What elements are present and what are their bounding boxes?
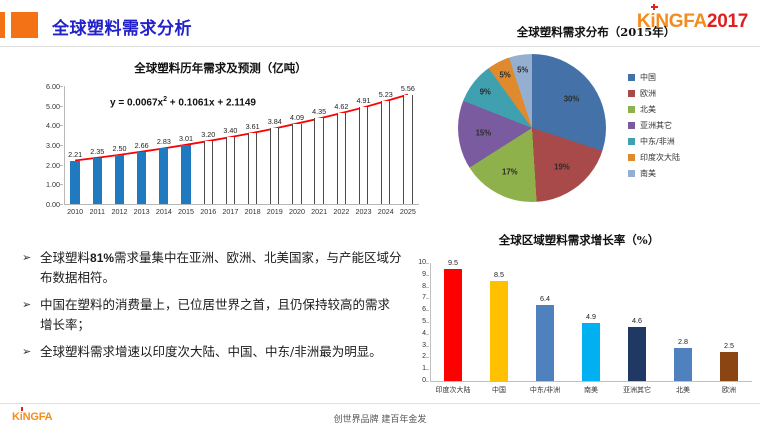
x-axis-tick-label: 2020 xyxy=(289,207,305,216)
growth-bar xyxy=(582,323,600,381)
growth-y-axis-tick-mark xyxy=(426,322,429,323)
y-axis-tick-mark xyxy=(60,106,63,107)
legend-swatch-icon xyxy=(628,122,635,129)
pie-legend-item: 中东/非洲 xyxy=(628,136,680,147)
growth-bar-value: 6.4 xyxy=(540,294,550,303)
growth-x-axis-tick-label: 南美 xyxy=(584,385,598,395)
growth-y-axis-tick-mark xyxy=(426,310,429,311)
y-axis-tick-label: 6.00 xyxy=(18,82,60,91)
x-axis-tick-label: 2010 xyxy=(67,207,83,216)
growth-y-axis-tick-mark xyxy=(426,287,429,288)
header-accent-sliver xyxy=(0,12,5,38)
growth-y-axis-tick-label: 0 xyxy=(400,377,426,384)
growth-y-axis-tick-label: 3 xyxy=(400,342,426,349)
growth-y-axis-tick-mark xyxy=(426,298,429,299)
pie-slice-label: 30% xyxy=(564,95,580,104)
legend-label: 亚洲其它 xyxy=(640,120,672,131)
growth-x-axis-tick-label: 中东/非洲 xyxy=(530,385,560,395)
page-footer: KiNGFA 创世界品牌 建百年金发 xyxy=(0,403,760,429)
legend-label: 印度次大陆 xyxy=(640,152,680,163)
demand-bar-value: 4.91 xyxy=(357,96,371,105)
y-axis-tick-label: 0.00 xyxy=(18,200,60,209)
x-axis-tick-label: 2025 xyxy=(400,207,416,216)
y-axis-tick-label: 3.00 xyxy=(18,141,60,150)
pie-slice-label: 5% xyxy=(499,71,510,80)
y-axis-tick-mark xyxy=(60,165,63,166)
legend-swatch-icon xyxy=(628,90,635,97)
growth-y-axis-tick-label: 10 xyxy=(400,259,426,266)
x-axis-tick-label: 2015 xyxy=(178,207,194,216)
pie-slice-label: 19% xyxy=(554,162,570,171)
x-axis-tick-label: 2012 xyxy=(111,207,127,216)
x-axis-tick-label: 2021 xyxy=(311,207,327,216)
demand-bar-value: 3.20 xyxy=(201,130,215,139)
legend-label: 南美 xyxy=(640,168,656,179)
growth-bar xyxy=(628,327,646,381)
pie-slice-label: 17% xyxy=(502,167,518,176)
demand-bar xyxy=(93,158,102,204)
growth-y-axis-tick-mark xyxy=(426,369,429,370)
demand-bar-value: 4.35 xyxy=(312,107,326,116)
growth-y-axis-tick-label: 8 xyxy=(400,283,426,290)
demand-history-title: 全球塑料历年需求及预测（亿吨） xyxy=(18,60,423,76)
demand-bar-value: 5.23 xyxy=(379,90,393,99)
bullet-text: 全球塑料需求增速以印度次大陆、中国、中东/非洲最为明显。 xyxy=(40,342,382,362)
pie-legend-item: 北美 xyxy=(628,104,680,115)
growth-y-axis-tick-label: 1 xyxy=(400,365,426,372)
demand-bar xyxy=(381,101,390,204)
demand-bar xyxy=(359,107,368,204)
growth-bar-value: 4.9 xyxy=(586,312,596,321)
demand-bar xyxy=(70,161,79,204)
footer-tagline: 创世界品牌 建百年金发 xyxy=(334,412,427,425)
bullet-marker-icon: ➢ xyxy=(22,248,40,288)
growth-y-axis-tick-mark xyxy=(426,346,429,347)
pie-plot: 中国欧洲北美亚洲其它中东/非洲印度次大陆南美 30%19%17%15%9%5%5… xyxy=(432,42,760,222)
legend-swatch-icon xyxy=(628,106,635,113)
demand-bar-value: 5.56 xyxy=(401,84,415,93)
growth-y-axis-tick-label: 7 xyxy=(400,294,426,301)
growth-bar-value: 2.5 xyxy=(724,341,734,350)
growth-x-axis-tick-label: 印度次大陆 xyxy=(436,385,471,395)
x-axis-tick-label: 2014 xyxy=(156,207,172,216)
demand-bar xyxy=(337,113,346,204)
x-axis-line xyxy=(64,204,419,205)
growth-bar xyxy=(444,269,462,381)
growth-bar xyxy=(720,352,738,382)
pie-legend-item: 南美 xyxy=(628,168,680,179)
bullet-item: ➢全球塑料81%需求量集中在亚洲、欧洲、北美国家，与产能区域分布数据相符。 xyxy=(22,248,402,288)
demand-bar-value: 2.21 xyxy=(68,150,82,159)
demand-distribution-chart: 全球塑料需求分布（2015年） 中国欧洲北美亚洲其它中东/非洲印度次大陆南美 3… xyxy=(432,24,760,224)
legend-swatch-icon xyxy=(628,154,635,161)
trendline-equation: y = 0.0067x2 + 0.1061x + 2.1149 xyxy=(110,96,256,108)
legend-swatch-icon xyxy=(628,170,635,177)
growth-bar-value: 4.6 xyxy=(632,316,642,325)
y-axis-tick-label: 5.00 xyxy=(18,102,60,111)
demand-bar-value: 4.09 xyxy=(290,113,304,122)
growth-y-axis-tick-mark xyxy=(426,357,429,358)
demand-bar-value: 3.01 xyxy=(179,134,193,143)
pie-slice-label: 9% xyxy=(480,87,491,96)
y-axis-line xyxy=(64,86,65,204)
regional-growth-chart: 全球区域塑料需求增长率（%） 0123456789109.5印度次大陆8.5中国… xyxy=(400,232,758,422)
pie-legend-item: 亚洲其它 xyxy=(628,120,680,131)
growth-x-axis-line xyxy=(430,381,752,382)
growth-y-axis-tick-label: 9 xyxy=(400,271,426,278)
growth-y-axis-tick-label: 2 xyxy=(400,353,426,360)
demand-history-chart: 全球塑料历年需求及预测（亿吨） 0.001.002.003.004.005.00… xyxy=(18,60,423,225)
bullet-item: ➢中国在塑料的消费量上，已位居世界之首，且仍保持较高的需求增长率； xyxy=(22,295,402,335)
y-axis-tick-mark xyxy=(60,184,63,185)
demand-bar xyxy=(181,145,190,204)
x-axis-tick-label: 2023 xyxy=(356,207,372,216)
growth-y-axis-tick-mark xyxy=(426,381,429,382)
bullet-marker-icon: ➢ xyxy=(22,342,40,362)
y-axis-tick-label: 1.00 xyxy=(18,180,60,189)
demand-bar-value: 2.50 xyxy=(112,144,126,153)
x-axis-tick-label: 2018 xyxy=(245,207,261,216)
bullet-marker-icon: ➢ xyxy=(22,295,40,335)
growth-y-axis-line xyxy=(430,263,431,381)
y-axis-tick-label: 4.00 xyxy=(18,121,60,130)
legend-label: 中东/非洲 xyxy=(640,136,675,147)
y-axis-tick-label: 2.00 xyxy=(18,161,60,170)
growth-y-axis-tick-label: 5 xyxy=(400,318,426,325)
demand-bar xyxy=(115,155,124,204)
bullet-text: 中国在塑料的消费量上，已位居世界之首，且仍保持较高的需求增长率； xyxy=(40,295,402,335)
pie-slice-label: 15% xyxy=(476,128,492,137)
legend-label: 欧洲 xyxy=(640,88,656,99)
demand-bar-value: 3.40 xyxy=(223,126,237,135)
demand-bar xyxy=(137,152,146,204)
legend-label: 中国 xyxy=(640,72,656,83)
demand-bar xyxy=(226,137,235,204)
growth-bar xyxy=(490,281,508,381)
x-axis-tick-label: 2013 xyxy=(134,207,150,216)
y-axis-tick-mark xyxy=(60,145,63,146)
growth-y-axis-tick-mark xyxy=(426,334,429,335)
x-axis-tick-label: 2011 xyxy=(90,207,105,216)
growth-bar-value: 2.8 xyxy=(678,337,688,346)
demand-bar-value: 3.61 xyxy=(246,122,260,131)
header-accent-square xyxy=(11,12,38,38)
x-axis-tick-label: 2019 xyxy=(267,207,283,216)
demand-bar xyxy=(159,148,168,204)
pie-legend-item: 欧洲 xyxy=(628,88,680,99)
footer-logo: KiNGFA xyxy=(12,411,52,423)
x-axis-tick-label: 2024 xyxy=(378,207,394,216)
growth-bar xyxy=(674,348,692,381)
growth-bar xyxy=(536,305,554,381)
demand-bar xyxy=(403,95,412,204)
y-axis-tick-mark xyxy=(60,204,63,205)
regional-growth-plot: 0123456789109.5印度次大陆8.5中国6.4中东/非洲4.9南美4.… xyxy=(400,251,758,421)
growth-bar-value: 8.5 xyxy=(494,270,504,279)
growth-bar-value: 9.5 xyxy=(448,258,458,267)
x-axis-tick-label: 2022 xyxy=(333,207,349,216)
growth-y-axis-tick-label: 6 xyxy=(400,306,426,313)
regional-growth-title: 全球区域塑料需求增长率（%） xyxy=(400,232,758,248)
growth-x-axis-tick-label: 中国 xyxy=(492,385,506,395)
demand-bar xyxy=(314,118,323,204)
growth-x-axis-tick-label: 北美 xyxy=(676,385,690,395)
pie-legend: 中国欧洲北美亚洲其它中东/非洲印度次大陆南美 xyxy=(628,72,680,184)
pie-legend-item: 中国 xyxy=(628,72,680,83)
pie-slice-label: 5% xyxy=(517,65,528,74)
demand-bar-value: 4.62 xyxy=(334,102,348,111)
legend-swatch-icon xyxy=(628,74,635,81)
x-axis-tick-label: 2017 xyxy=(222,207,238,216)
growth-y-axis-tick-label: 4 xyxy=(400,330,426,337)
growth-x-axis-tick-label: 亚洲其它 xyxy=(623,385,651,395)
demand-distribution-title: 全球塑料需求分布（2015年） xyxy=(432,24,760,40)
y-axis-tick-mark xyxy=(60,86,63,87)
x-axis-tick-label: 2016 xyxy=(200,207,216,216)
demand-bar-value: 2.35 xyxy=(90,147,104,156)
pie-legend-item: 印度次大陆 xyxy=(628,152,680,163)
growth-y-axis-tick-mark xyxy=(426,275,429,276)
demand-bar-value: 2.66 xyxy=(135,141,149,150)
growth-y-axis-tick-mark xyxy=(426,263,429,264)
legend-swatch-icon xyxy=(628,138,635,145)
bullet-text: 全球塑料81%需求量集中在亚洲、欧洲、北美国家，与产能区域分布数据相符。 xyxy=(40,248,402,288)
demand-bar xyxy=(204,141,213,204)
demand-bar xyxy=(248,133,257,204)
legend-label: 北美 xyxy=(640,104,656,115)
bullet-item: ➢全球塑料需求增速以印度次大陆、中国、中东/非洲最为明显。 xyxy=(22,342,402,362)
page-title: 全球塑料需求分析 xyxy=(52,14,192,39)
demand-bar xyxy=(270,128,279,204)
y-axis-tick-mark xyxy=(60,125,63,126)
growth-x-axis-tick-label: 欧洲 xyxy=(722,385,736,395)
demand-bar-value: 3.84 xyxy=(268,117,282,126)
demand-bar-value: 2.83 xyxy=(157,137,171,146)
demand-bar xyxy=(292,124,301,204)
bullet-list: ➢全球塑料81%需求量集中在亚洲、欧洲、北美国家，与产能区域分布数据相符。➢中国… xyxy=(22,248,402,369)
